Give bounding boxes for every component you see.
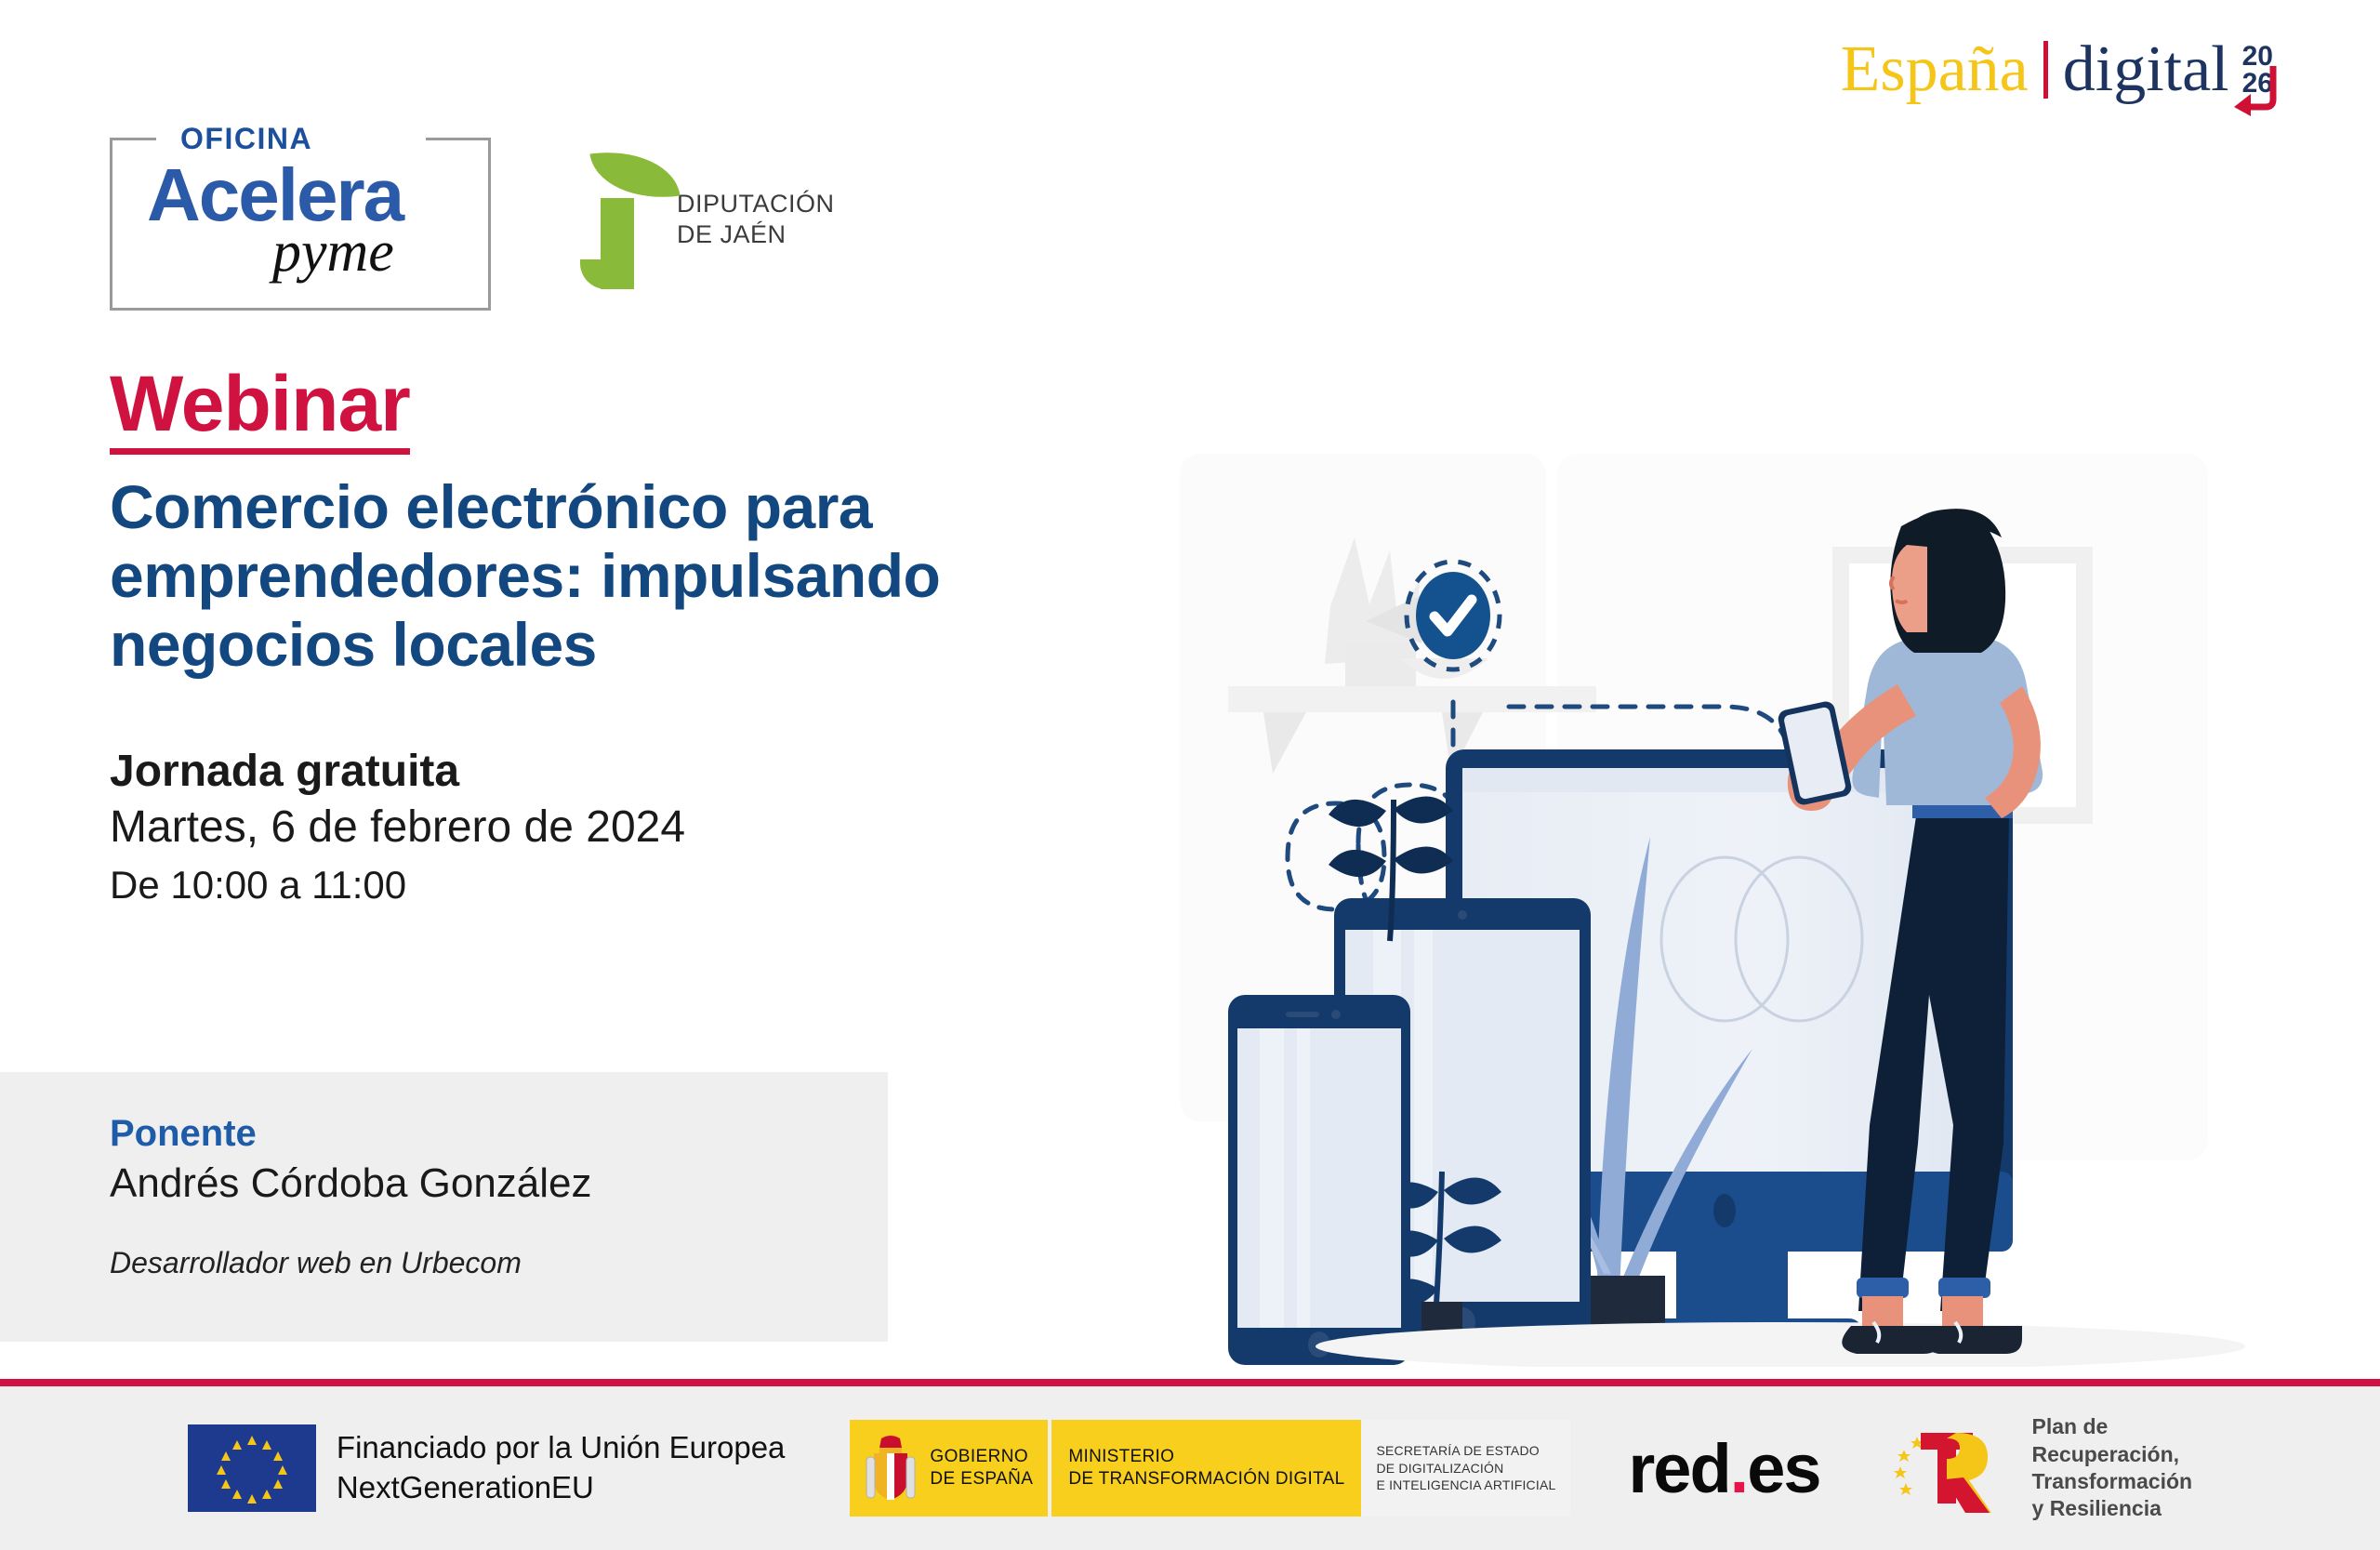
jaen-j-icon (580, 150, 666, 289)
diputacion-jaen-logo: DIPUTACIÓN DE JAÉN (580, 145, 878, 294)
prtr-mark-icon (1893, 1424, 2016, 1513)
j-hook-shape (580, 259, 634, 289)
digital-wordmark: digital (2063, 37, 2229, 102)
diputacion-line-1: DIPUTACIÓN (677, 189, 835, 219)
prtr-line-1: Plan de (2032, 1413, 2193, 1440)
speaker-panel: Ponente Andrés Córdoba González Desarrol… (0, 1072, 888, 1342)
poster-canvas: OFICINA Acelera pyme DIPUTACIÓN DE JAÉN … (0, 0, 2380, 1550)
top-left-logos: OFICINA Acelera pyme DIPUTACIÓN DE JAÉN (110, 138, 878, 311)
acelera-pyme-subwordmark: pyme (272, 223, 394, 281)
illustration-svg (1167, 437, 2310, 1367)
speaker-name: Andrés Córdoba González (110, 1158, 592, 1209)
event-time: De 10:00 a 11:00 (110, 859, 685, 912)
eu-funding-logo: Financiado por la Unión Europea NextGene… (188, 1424, 785, 1512)
hero-illustration (1167, 437, 2310, 1367)
ministerio-line-2: DE TRANSFORMACIÓN DIGITAL (1068, 1468, 1344, 1490)
ministerio-text: MINISTERIO DE TRANSFORMACIÓN DIGITAL (1068, 1446, 1344, 1490)
page-title: Comercio electrónico para emprendedores:… (110, 473, 1132, 680)
prtr-text: Plan de Recuperación, Transformación y R… (2032, 1413, 2193, 1523)
diputacion-jaen-text: DIPUTACIÓN DE JAÉN (677, 189, 835, 250)
gobierno-block: GOBIERNO DE ESPAÑA (850, 1420, 1048, 1517)
espana-digital-logo: España digital 20 26 (1841, 37, 2273, 102)
eu-flag-icon (188, 1424, 316, 1512)
eu-funding-line-1: Financiado por la Unión Europea (337, 1428, 785, 1468)
footer-logos: Financiado por la Unión Europea NextGene… (0, 1386, 2380, 1550)
redes-es: es (1747, 1430, 1819, 1507)
prtr-stars (1894, 1437, 1924, 1495)
date-block: Jornada gratuita Martes, 6 de febrero de… (110, 744, 685, 912)
diputacion-line-2: DE JAÉN (677, 219, 835, 250)
plan-recuperacion-logo: Plan de Recuperación, Transformación y R… (1893, 1413, 2193, 1523)
eu-funding-text: Financiado por la Unión Europea NextGene… (337, 1428, 785, 1508)
main-text-block: Webinar Comercio electrónico para empren… (110, 364, 1132, 680)
espana-wordmark: España (1841, 37, 2029, 102)
speaker-role: Desarrollador web en Urbecom (110, 1246, 592, 1280)
eu-funding-line-2: NextGenerationEU (337, 1468, 785, 1508)
return-arrow-icon (2230, 64, 2279, 116)
espana-digital-divider (2043, 41, 2048, 99)
secretaria-text: SECRETARÍA DE ESTADO DE DIGITALIZACIÓN E… (1376, 1442, 1555, 1495)
footer-divider (0, 1379, 2380, 1386)
speaker-panel-content: Ponente Andrés Córdoba González Desarrol… (110, 1111, 592, 1280)
prtr-line-2: Recuperación, (2032, 1441, 2193, 1468)
gobierno-espana-logo: GOBIERNO DE ESPAÑA MINISTERIO DE TRANSFO… (850, 1420, 1570, 1517)
redes-red: red (1628, 1430, 1729, 1507)
secretaria-line-2: DE DIGITALIZACIÓN (1376, 1460, 1555, 1477)
espana-digital-year: 20 26 (2242, 44, 2273, 97)
prtr-line-3: Transformación (2032, 1468, 2193, 1495)
secretaria-line-3: E INTELIGENCIA ARTIFICIAL (1376, 1477, 1555, 1494)
event-type-kicker: Webinar (110, 364, 410, 455)
coat-of-arms-icon (865, 1433, 917, 1504)
ministerio-line-1: MINISTERIO (1068, 1446, 1344, 1468)
event-date: Martes, 6 de febrero de 2024 (110, 800, 685, 855)
speaker-label: Ponente (110, 1111, 592, 1156)
acelera-pyme-logo: OFICINA Acelera pyme (110, 138, 491, 311)
gobierno-line-1: GOBIERNO (930, 1446, 1033, 1468)
smartphone-device (1228, 995, 1410, 1365)
redes-logo: red.es (1628, 1429, 1819, 1508)
gobierno-line-2: DE ESPAÑA (930, 1468, 1033, 1490)
secretaria-block: SECRETARÍA DE ESTADO DE DIGITALIZACIÓN E… (1361, 1420, 1570, 1517)
ministerio-block: MINISTERIO DE TRANSFORMACIÓN DIGITAL (1051, 1420, 1361, 1517)
acelera-pyme-oficina-label: OFICINA (173, 122, 320, 156)
redes-dot: . (1730, 1430, 1748, 1507)
jornada-label: Jornada gratuita (110, 744, 685, 800)
secretaria-line-1: SECRETARÍA DE ESTADO (1376, 1442, 1555, 1460)
gobierno-text: GOBIERNO DE ESPAÑA (930, 1446, 1033, 1490)
prtr-line-4: y Resiliencia (2032, 1495, 2193, 1522)
